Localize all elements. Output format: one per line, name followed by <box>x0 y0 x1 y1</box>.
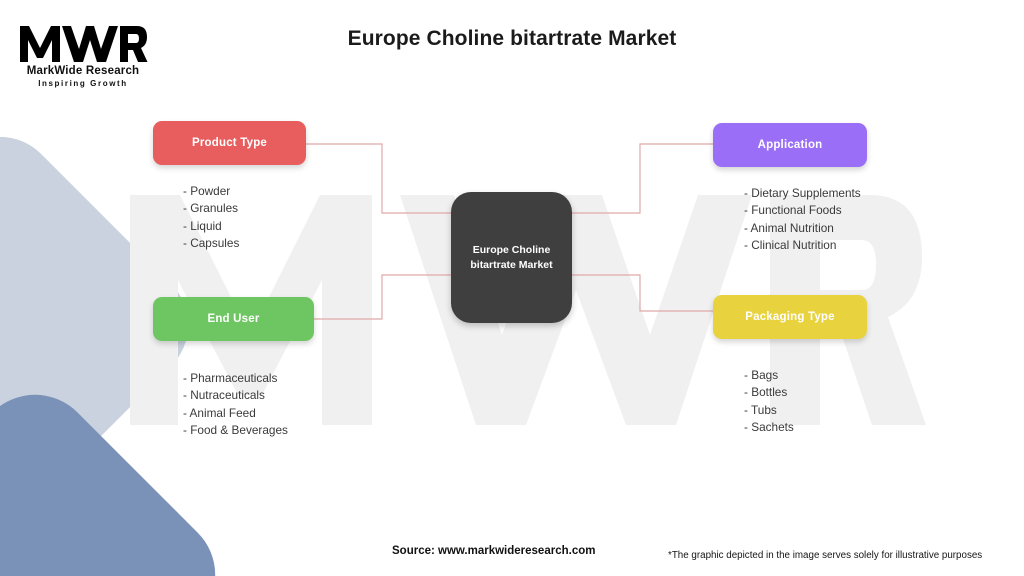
center-node-line1: Europe Choline <box>473 244 551 256</box>
list-item: - Liquid <box>183 218 306 235</box>
branch-product-type: Product Type - Powder - Granules - Liqui… <box>153 121 306 252</box>
list-item: - Granules <box>183 200 306 217</box>
list-item: - Food & Beverages <box>183 422 314 439</box>
branch-title-product-type: Product Type <box>192 137 267 149</box>
footer-disclaimer: *The graphic depicted in the image serve… <box>668 550 982 561</box>
branch-list-end-user: - Pharmaceuticals - Nutraceuticals - Ani… <box>153 370 314 439</box>
list-item: - Powder <box>183 183 306 200</box>
list-item: - Functional Foods <box>744 202 867 219</box>
list-item: - Capsules <box>183 235 306 252</box>
list-item: - Pharmaceuticals <box>183 370 314 387</box>
list-item: - Tubs <box>744 402 867 419</box>
branch-list-application: - Dietary Supplements - Functional Foods… <box>713 185 867 254</box>
footer-source[interactable]: Source: www.markwideresearch.com <box>392 545 595 557</box>
branch-title-packaging-type: Packaging Type <box>745 311 835 323</box>
infographic-canvas: MarkWide Research Inspiring Growth Europ… <box>0 0 1024 576</box>
page-title: Europe Choline bitartrate Market <box>0 27 1024 51</box>
list-item: - Nutraceuticals <box>183 387 314 404</box>
list-item: - Animal Feed <box>183 405 314 422</box>
branch-header-packaging-type[interactable]: Packaging Type <box>713 295 867 339</box>
center-node-label: Europe Choline bitartrate Market <box>462 243 560 273</box>
list-item: - Bags <box>744 367 867 384</box>
list-item: - Animal Nutrition <box>744 220 867 237</box>
list-item: - Bottles <box>744 384 867 401</box>
branch-header-end-user[interactable]: End User <box>153 297 314 341</box>
center-node-line2: bitartrate Market <box>470 259 552 271</box>
branch-list-product-type: - Powder - Granules - Liquid - Capsules <box>153 183 306 252</box>
branch-application: Application - Dietary Supplements - Func… <box>713 123 867 254</box>
branch-list-packaging-type: - Bags - Bottles - Tubs - Sachets <box>713 367 867 436</box>
branch-title-end-user: End User <box>207 313 259 325</box>
branch-end-user: End User - Pharmaceuticals - Nutraceutic… <box>153 297 314 439</box>
list-item: - Dietary Supplements <box>744 185 867 202</box>
branch-title-application: Application <box>758 139 823 151</box>
list-item: - Clinical Nutrition <box>744 237 867 254</box>
brand-name: MarkWide Research <box>18 65 148 77</box>
center-node: Europe Choline bitartrate Market <box>451 192 572 323</box>
branch-header-application[interactable]: Application <box>713 123 867 167</box>
list-item: - Sachets <box>744 419 867 436</box>
brand-tagline: Inspiring Growth <box>18 79 148 88</box>
branch-header-product-type[interactable]: Product Type <box>153 121 306 165</box>
branch-packaging-type: Packaging Type - Bags - Bottles - Tubs -… <box>713 295 867 436</box>
